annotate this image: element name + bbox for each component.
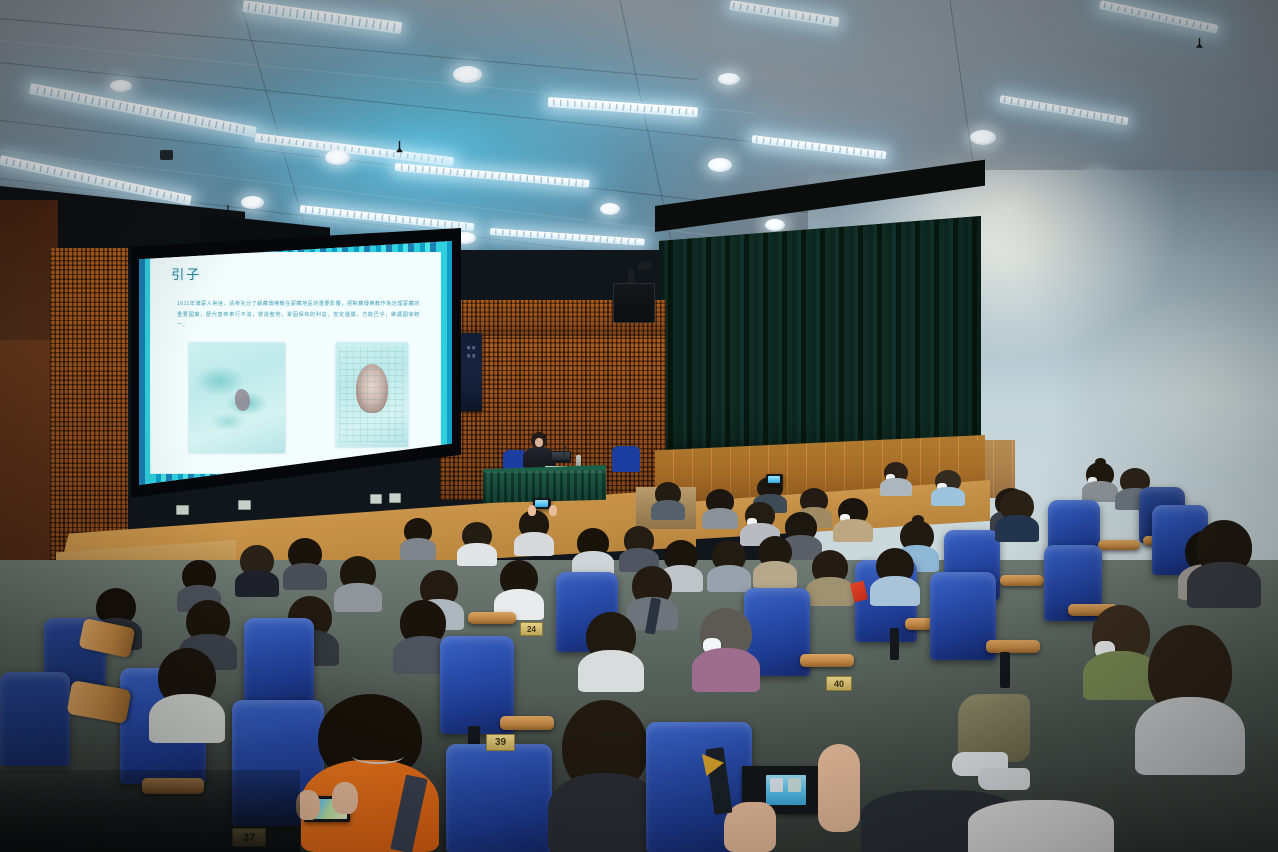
torso: [931, 487, 965, 506]
hand: [549, 505, 557, 516]
hair-bun: [1095, 458, 1106, 466]
audience-member: [586, 612, 636, 692]
seat-armrest: [986, 640, 1040, 653]
torso: [514, 532, 554, 556]
ceiling-light-tube: [999, 95, 1128, 125]
torso: [833, 519, 873, 542]
audience-member: [462, 522, 492, 566]
seat-armrest: [1098, 540, 1140, 550]
audience-member: [340, 556, 376, 612]
torso: [400, 538, 437, 560]
slide-image-thangka: 唐卡像 彩繪: [336, 343, 408, 446]
ceiling-light-tube: [490, 228, 645, 246]
ceiling-downlight: [708, 158, 732, 172]
torso: [806, 577, 854, 606]
ceiling-downlight: [241, 196, 264, 209]
audience-member: [562, 700, 648, 852]
audience-member: [1086, 462, 1114, 502]
audience-member: [812, 550, 848, 606]
camera-lcd-screen: [768, 476, 780, 483]
torso: [235, 570, 280, 597]
slide-content: 引子 1611年滿蒙人崇信，清帝充分了解藏傳佛教在蒙藏地區的重要影響，把對藏傳佛…: [151, 253, 440, 473]
audience-member: [884, 462, 908, 496]
seat-armrest: [800, 654, 854, 667]
foreground-shadow: [0, 770, 300, 852]
slide-image-landscape: 康熙帝御筆 御製碑文: [189, 343, 286, 453]
hand: [818, 744, 860, 832]
torso: [870, 576, 920, 606]
shoe: [978, 768, 1030, 790]
slide-body-text: 1611年滿蒙人崇信，清帝充分了解藏傳佛教在蒙藏地區的重要影響，把對藏傳佛教作為…: [177, 299, 420, 330]
audience-member: [577, 528, 609, 576]
audience-member: [288, 538, 322, 590]
ceiling-downlight: [453, 66, 482, 83]
ceiling-downlight: [718, 73, 740, 85]
seat-number: 24: [527, 625, 536, 634]
speaker-chair: [612, 446, 640, 472]
seat-number-plate: 39: [486, 734, 515, 751]
wall-socket[interactable]: [389, 493, 401, 503]
laptop-screen: [552, 452, 570, 460]
ceiling-light-tube: [29, 83, 257, 138]
hand: [332, 782, 358, 814]
ceiling-loudspeaker: [613, 283, 655, 323]
slide-title: 引子: [171, 264, 201, 283]
seat-armrest: [500, 716, 554, 730]
audience-member: [838, 498, 868, 542]
event-banner: 學 術 講 座: [461, 333, 482, 411]
audience-member: [758, 536, 792, 588]
seat-armrest: [1000, 575, 1044, 586]
ceiling-downlight: [325, 150, 350, 165]
torso: [1135, 697, 1246, 775]
audience-member-photographing: [519, 510, 549, 556]
seat-leg: [1000, 652, 1010, 688]
torso: [753, 561, 798, 588]
audience-member: [158, 648, 216, 743]
audience-member: [876, 548, 914, 606]
torso: [149, 694, 226, 743]
seat-number-plate: 40: [826, 676, 852, 691]
ceiling-light-tube: [395, 163, 590, 188]
seat-back: [446, 744, 552, 852]
seat[interactable]: [244, 618, 314, 710]
torso: [283, 563, 328, 590]
ceiling-downlight: [765, 219, 785, 231]
seat-number: 39: [495, 737, 506, 748]
audience-member: [404, 518, 432, 560]
audience-member: [935, 470, 961, 506]
necklace: [352, 748, 404, 764]
seat-leg: [890, 628, 899, 660]
audience-member: [1000, 490, 1034, 542]
audience-member: [712, 540, 746, 592]
torso: [880, 478, 912, 496]
hand: [528, 505, 536, 516]
compact-camera[interactable]: [766, 474, 783, 485]
wall-socket[interactable]: [370, 494, 382, 504]
wall-socket[interactable]: [176, 505, 189, 515]
audience-member: [706, 489, 734, 529]
seat[interactable]: [446, 744, 552, 852]
audience-member: [700, 608, 752, 692]
ceiling-sprinkler-icon: [1196, 38, 1203, 52]
seat-number: 40: [834, 679, 844, 689]
audience-member: [1148, 625, 1232, 775]
ceiling-sensor-icon: [160, 150, 173, 160]
torso: [1187, 562, 1261, 608]
projection-screen: 引子 1611年滿蒙人崇信，清帝充分了解藏傳佛教在蒙藏地區的重要影響，把對藏傳佛…: [139, 241, 452, 485]
ceiling-light-tube: [752, 135, 887, 159]
audience-member: [1196, 520, 1252, 608]
phone-screen: [535, 500, 548, 507]
auditorium-photo: 學 術 講 座 引子 1611年滿蒙人崇信，清帝充分了解藏傳佛教在蒙藏地區的重要…: [0, 0, 1278, 852]
audience-member: [655, 482, 681, 520]
audience-member: [240, 545, 274, 597]
ceiling-downlight: [110, 80, 132, 92]
ceiling-light-tube: [1099, 0, 1218, 34]
ceiling-downlight: [600, 203, 620, 215]
torso: [968, 800, 1113, 852]
seat[interactable]: [0, 672, 70, 766]
ceiling-light-tube: [242, 0, 402, 34]
torso: [651, 500, 685, 520]
hair-bun: [912, 515, 924, 524]
seat-back: [0, 672, 70, 766]
torso: [457, 543, 497, 566]
speaker-face: [535, 438, 543, 447]
audience-member: [986, 800, 1096, 852]
banner-text: 學 術 講 座: [461, 344, 482, 360]
seat-back: [244, 618, 314, 710]
torso: [702, 508, 739, 529]
torso: [578, 650, 644, 692]
projector-bracket: [638, 262, 652, 270]
stage-curtain: [659, 216, 981, 466]
torso: [692, 648, 761, 692]
speaker: [527, 432, 551, 468]
torso: [548, 773, 662, 852]
wall-socket[interactable]: [238, 500, 251, 510]
audience-member: [1092, 605, 1150, 700]
camera-lcd-thumbnail: [770, 778, 783, 792]
torso: [1082, 481, 1119, 502]
ceiling-light-tube: [729, 0, 839, 27]
seat-armrest: [468, 612, 516, 624]
camera-lcd-thumbnail: [788, 778, 801, 792]
torso: [995, 515, 1040, 542]
audience-member: [500, 560, 538, 620]
torso: [334, 583, 382, 612]
seat-number-plate: 24: [520, 622, 543, 636]
slide-image-row: 康熙帝御筆 御製碑文 唐卡像 彩繪: [189, 343, 409, 453]
